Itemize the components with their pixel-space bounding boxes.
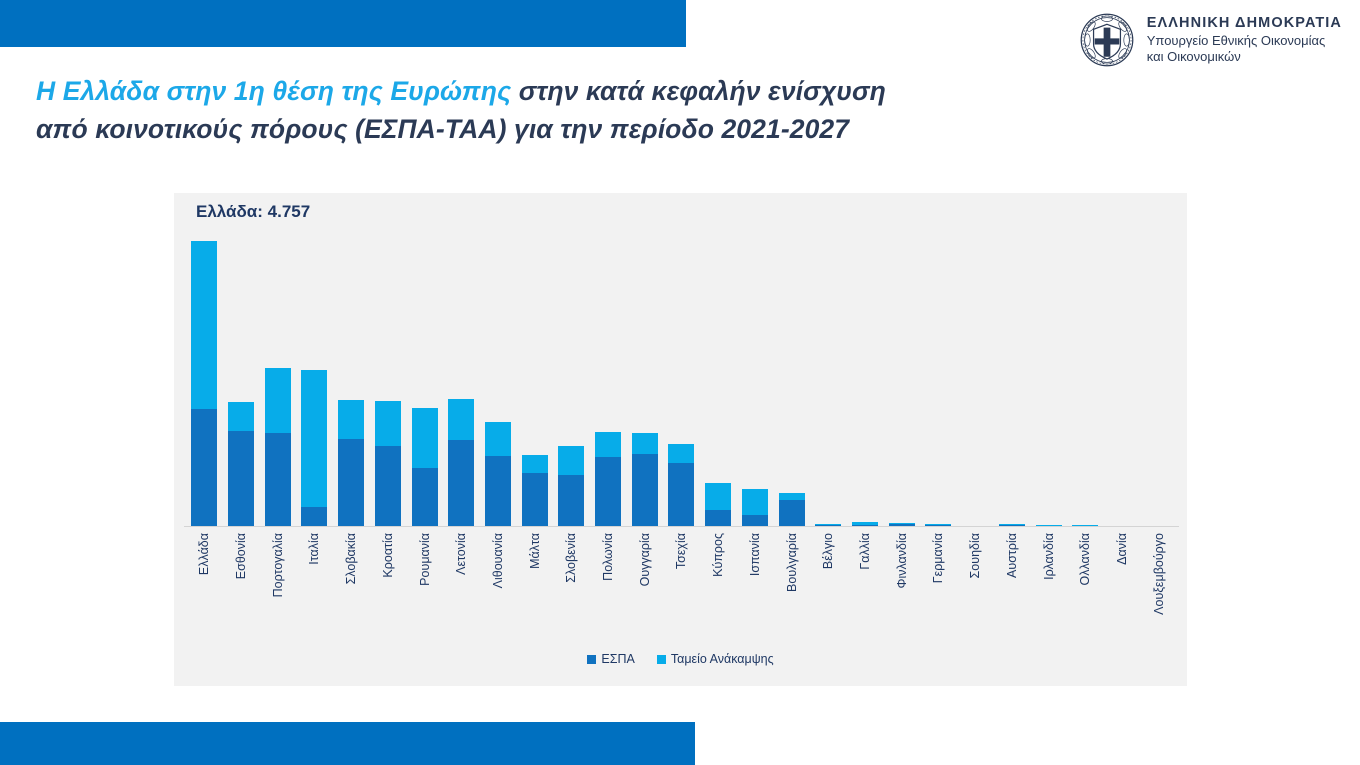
x-axis-label-text: Κροατία — [381, 533, 395, 578]
greek-coat-of-arms-icon — [1079, 12, 1135, 68]
bar-column — [259, 224, 296, 526]
bar-segment-espa — [265, 433, 291, 527]
bar-column — [553, 224, 590, 526]
bar-stack — [448, 330, 474, 526]
x-axis-label-9: Λιθουανία — [480, 529, 517, 649]
x-axis-label-11: Σλοβενία — [553, 529, 590, 649]
bar-segment-espa — [742, 515, 768, 526]
bar-column — [1067, 224, 1104, 526]
bar-stack — [338, 331, 364, 526]
x-axis-labels: ΕλλάδαΕσθονίαΠορτογαλίαΙταλίαΣλοβακίαΚρο… — [186, 529, 1177, 649]
x-axis-label-25: Ολλανδία — [1067, 529, 1104, 649]
x-axis-label-6: Κροατία — [370, 529, 407, 649]
chart-annotation: Ελλάδα: 4.757 — [196, 202, 310, 222]
bar-stack — [412, 337, 438, 526]
legend-swatch-icon — [587, 655, 596, 664]
bar-column — [847, 224, 884, 526]
legend-item-2[interactable]: Ταμείο Ανάκαμψης — [657, 652, 774, 666]
bar-segment-recovery-fund — [632, 433, 658, 454]
bar-stack — [632, 358, 658, 526]
bar-segment-espa — [375, 446, 401, 526]
legend-label: ΕΣΠΑ — [601, 652, 634, 666]
bar-segment-recovery-fund — [485, 422, 511, 456]
x-axis-label-text: Εσθονία — [234, 533, 248, 579]
x-axis-label-text: Σλοβακία — [344, 533, 358, 584]
bar-segment-recovery-fund — [375, 401, 401, 446]
bar-segment-espa — [668, 463, 694, 526]
x-axis-label-10: Μάλτα — [516, 529, 553, 649]
x-axis-label-text: Βέλγιο — [821, 533, 835, 569]
bar-column — [480, 224, 517, 526]
x-axis-label-text: Βουλγαρία — [785, 533, 799, 592]
bar-segment-recovery-fund — [448, 399, 474, 440]
title-line-1: Η Ελλάδα στην 1η θέση της Ευρώπης στην κ… — [36, 72, 1096, 110]
ministry-line-2: και Οικονομικών — [1147, 49, 1342, 66]
bar-segment-recovery-fund — [265, 368, 291, 432]
bar-stack — [522, 380, 548, 526]
x-axis-label-text: Ρουμανία — [418, 533, 432, 586]
bar-column — [223, 224, 260, 526]
bottom-decorative-band — [0, 722, 695, 765]
bar-stack — [668, 369, 694, 526]
bar-segment-espa — [228, 431, 254, 526]
bar-segment-recovery-fund — [668, 444, 694, 463]
x-axis-label-22: Σουηδία — [957, 529, 994, 649]
x-axis-label-14: Τσεχία — [663, 529, 700, 649]
bar-segment-recovery-fund — [522, 455, 548, 472]
bar-column — [406, 224, 443, 526]
bar-segment-recovery-fund — [338, 400, 364, 439]
x-axis-label-17: Βουλγαρία — [773, 529, 810, 649]
x-axis-label-12: Πολωνία — [590, 529, 627, 649]
bar-column — [333, 224, 370, 526]
bar-stack — [1109, 515, 1135, 526]
chart-plot-area — [186, 224, 1177, 526]
bar-column — [443, 224, 480, 526]
bar-segment-recovery-fund — [705, 483, 731, 510]
bar-segment-espa — [338, 439, 364, 526]
x-axis-label-4: Ιταλία — [296, 529, 333, 649]
bar-segment-espa — [485, 456, 511, 526]
bar-stack — [485, 349, 511, 527]
title-line-2: από κοινοτικούς πόρους (ΕΣΠΑ-ΤΑΑ) για τη… — [36, 110, 1096, 148]
legend-swatch-icon — [657, 655, 666, 664]
x-axis-label-text: Τσεχία — [674, 533, 688, 569]
bar-stack — [705, 412, 731, 526]
x-axis-label-text: Λετονία — [454, 533, 468, 575]
x-axis-label-21: Γερμανία — [920, 529, 957, 649]
x-axis-label-13: Ουγγαρία — [626, 529, 663, 649]
x-axis-label-2: Εσθονία — [223, 529, 260, 649]
bar-segment-espa — [191, 409, 217, 526]
chart-panel: Ελλάδα: 4.757 ΕλλάδαΕσθονίαΠορτογαλίαΙτα… — [174, 193, 1187, 686]
bar-stack — [228, 332, 254, 526]
bar-column — [773, 224, 810, 526]
bar-stack — [595, 358, 621, 526]
bar-stack — [999, 501, 1025, 526]
x-axis-label-19: Γαλλία — [847, 529, 884, 649]
bar-segment-recovery-fund — [228, 402, 254, 431]
bar-stack — [558, 371, 584, 526]
x-axis-line — [184, 526, 1179, 527]
bar-segment-espa — [779, 500, 805, 526]
bar-stack — [375, 332, 401, 526]
bar-segment-espa — [705, 510, 731, 526]
bar-segment-recovery-fund — [191, 241, 217, 409]
bar-stack — [852, 493, 878, 526]
x-axis-label-23: Αυστρία — [993, 529, 1030, 649]
x-axis-label-text: Δανία — [1115, 533, 1129, 565]
x-axis-label-text: Σουηδία — [968, 533, 982, 578]
bar-column — [957, 224, 994, 526]
bar-stack — [1146, 518, 1172, 526]
x-axis-label-16: Ισπανία — [737, 529, 774, 649]
bar-column — [810, 224, 847, 526]
bar-stack — [265, 308, 291, 526]
bar-stack — [779, 426, 805, 526]
bar-column — [1140, 224, 1177, 526]
ministry-line-1: Υπουργείο Εθνικής Οικονομίας — [1147, 33, 1342, 50]
x-axis-label-27: Λουξεμβούργο — [1140, 529, 1177, 649]
bar-segment-espa — [448, 440, 474, 526]
bar-segment-recovery-fund — [742, 489, 768, 515]
x-axis-label-text: Ελλάδα — [197, 533, 211, 575]
x-axis-label-text: Φινλανδία — [895, 533, 909, 589]
bar-column — [516, 224, 553, 526]
x-axis-label-5: Σλοβακία — [333, 529, 370, 649]
bar-stack — [1072, 513, 1098, 526]
x-axis-label-text: Ολλανδία — [1078, 533, 1092, 585]
bar-column — [296, 224, 333, 526]
bar-series-container — [186, 224, 1177, 526]
header-logo: ΕΛΛΗΝΙΚΗ ΔΗΜΟΚΡΑΤΙΑ Υπουργείο Εθνικής Οι… — [1079, 12, 1342, 68]
x-axis-label-text: Ιρλανδία — [1042, 533, 1056, 580]
bar-stack — [191, 233, 217, 526]
x-axis-label-text: Γερμανία — [931, 533, 945, 583]
bar-column — [626, 224, 663, 526]
bar-column — [920, 224, 957, 526]
bar-stack — [301, 309, 327, 526]
x-axis-label-1: Ελλάδα — [186, 529, 223, 649]
x-axis-label-text: Πορτογαλία — [271, 533, 285, 597]
x-axis-label-18: Βέλγιο — [810, 529, 847, 649]
bar-stack — [925, 503, 951, 526]
bar-stack — [815, 500, 841, 527]
x-axis-label-3: Πορτογαλία — [259, 529, 296, 649]
bar-column — [370, 224, 407, 526]
bar-stack — [889, 495, 915, 526]
bar-column — [737, 224, 774, 526]
x-axis-label-text: Ιταλία — [307, 533, 321, 565]
bar-column — [1104, 224, 1141, 526]
bar-stack — [962, 515, 988, 526]
x-axis-label-text: Σλοβενία — [564, 533, 578, 583]
org-name: ΕΛΛΗΝΙΚΗ ΔΗΜΟΚΡΑΤΙΑ — [1147, 14, 1342, 33]
bar-column — [1030, 224, 1067, 526]
bar-segment-recovery-fund — [779, 493, 805, 500]
x-axis-label-15: Κύπρος — [700, 529, 737, 649]
top-decorative-band — [0, 0, 686, 47]
x-axis-label-20: Φινλανδία — [883, 529, 920, 649]
bar-column — [186, 224, 223, 526]
x-axis-label-text: Κύπρος — [711, 533, 725, 577]
bar-segment-recovery-fund — [301, 370, 327, 507]
bar-column — [700, 224, 737, 526]
bar-stack — [742, 421, 768, 526]
x-axis-label-text: Ισπανία — [748, 533, 762, 576]
x-axis-label-text: Λιθουανία — [491, 533, 505, 588]
legend-label: Ταμείο Ανάκαμψης — [671, 652, 774, 666]
x-axis-label-text: Μάλτα — [528, 533, 542, 569]
x-axis-label-text: Αυστρία — [1005, 533, 1019, 578]
page-title: Η Ελλάδα στην 1η θέση της Ευρώπης στην κ… — [36, 72, 1096, 149]
bar-column — [993, 224, 1030, 526]
bar-segment-recovery-fund — [558, 446, 584, 475]
bar-column — [663, 224, 700, 526]
bar-segment-espa — [558, 475, 584, 526]
title-accent-text: Η Ελλάδα στην 1η θέση της Ευρώπης — [36, 76, 511, 106]
x-axis-label-26: Δανία — [1104, 529, 1141, 649]
bar-column — [883, 224, 920, 526]
bar-segment-espa — [595, 457, 621, 526]
title-rest-text: στην κατά κεφαλήν ενίσχυση — [511, 76, 886, 106]
bar-segment-recovery-fund — [412, 408, 438, 468]
x-axis-label-text: Λουξεμβούργο — [1152, 533, 1166, 615]
bar-column — [590, 224, 627, 526]
x-axis-label-7: Ρουμανία — [406, 529, 443, 649]
x-axis-label-8: Λετονία — [443, 529, 480, 649]
bar-segment-espa — [522, 473, 548, 526]
bar-segment-recovery-fund — [595, 432, 621, 457]
bar-segment-espa — [301, 507, 327, 526]
x-axis-label-24: Ιρλανδία — [1030, 529, 1067, 649]
x-axis-label-text: Πολωνία — [601, 533, 615, 581]
x-axis-label-text: Ουγγαρία — [638, 533, 652, 586]
legend-item-1[interactable]: ΕΣΠΑ — [587, 652, 634, 666]
bar-stack — [1036, 509, 1062, 526]
chart-legend: ΕΣΠΑΤαμείο Ανάκαμψης — [174, 652, 1187, 666]
x-axis-label-text: Γαλλία — [858, 533, 872, 570]
bar-segment-espa — [412, 468, 438, 526]
bar-segment-espa — [632, 454, 658, 526]
